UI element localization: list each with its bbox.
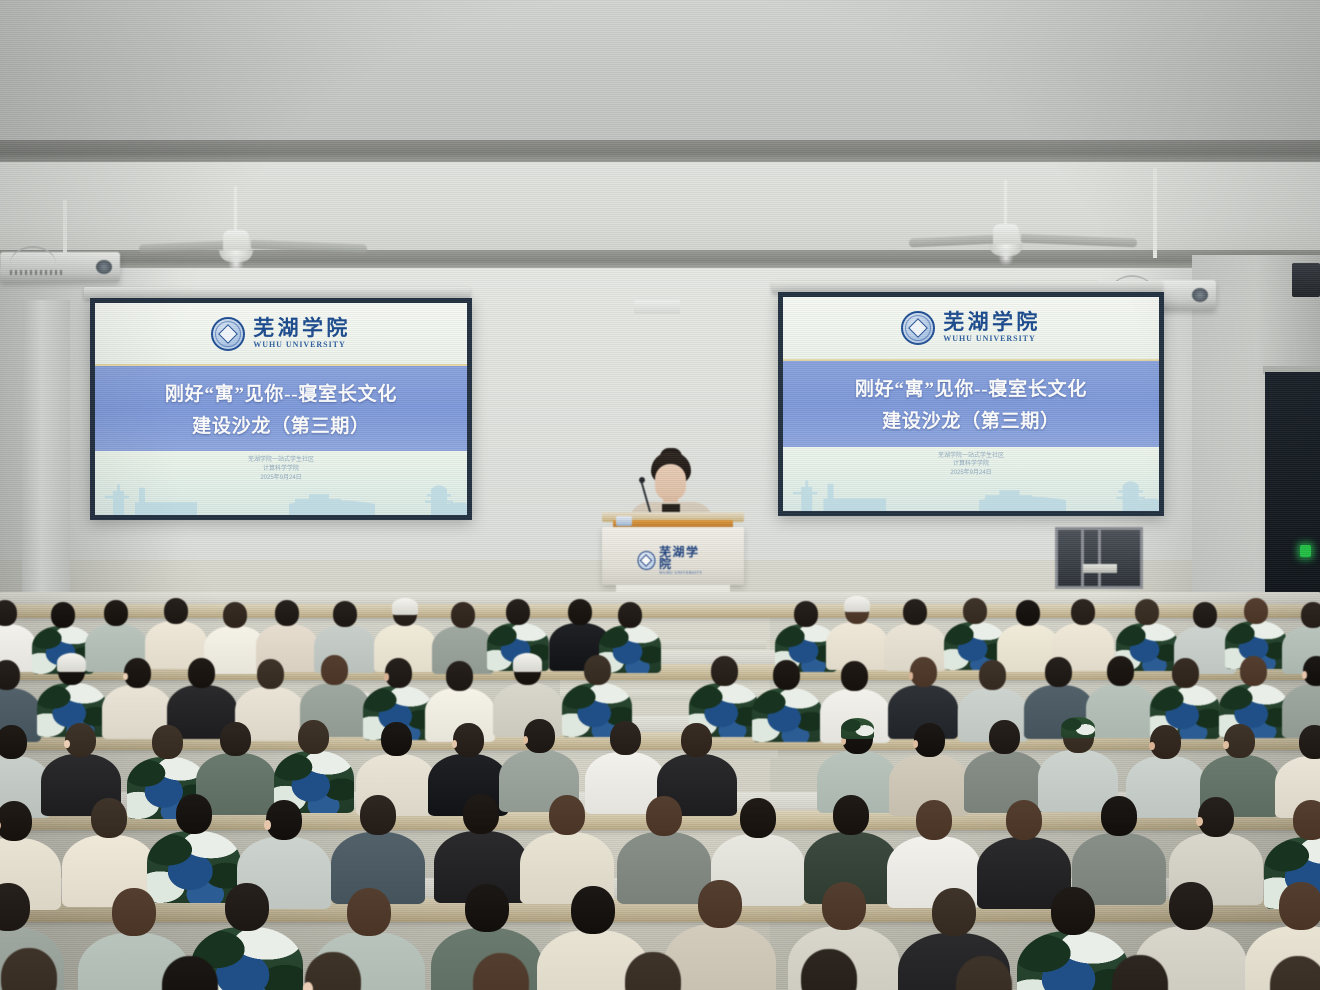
audience-member-head: [584, 655, 611, 685]
audience-member-head: [112, 888, 156, 936]
audience-member-head: [463, 794, 499, 834]
projection-screen-left: 芜湖学院 WUHU UNIVERSITY 刚好“寓”见你--寝室长文化 建设沙龙…: [90, 298, 472, 520]
audience-member-head: [0, 660, 20, 690]
slide-title-line2: 建设沙龙（第三期）: [882, 406, 1060, 433]
audience-member-head: [740, 798, 776, 838]
exit-sign-icon: [1300, 545, 1311, 557]
audience-member-head: [903, 599, 927, 625]
storage-cubby-unit: [1055, 527, 1143, 589]
podium-emblem-icon: [638, 551, 656, 570]
audience-member-cap: [841, 718, 874, 739]
audience-member-ear: [123, 673, 128, 680]
audience-member-head: [1006, 800, 1042, 840]
footer-line-1: 芜湖学院一站式学生社区: [938, 452, 1004, 461]
slide-header-right: 芜湖学院 WUHU UNIVERSITY: [783, 297, 1159, 361]
audience-member-head: [0, 725, 27, 759]
audience-member-head: [220, 722, 251, 756]
slide-university-cn: 芜湖学院: [253, 318, 350, 339]
audience-member-head: [51, 602, 75, 628]
wall-outlet-plate: [634, 300, 680, 314]
audience-member-head: [1150, 725, 1181, 759]
audience-member-head: [1045, 657, 1072, 687]
audience-member-head: [152, 725, 183, 759]
slide-footer-text-left: 芜湖学院一站式学生社区 计算科学学院 2025年9月24日: [248, 456, 314, 482]
audience-member-head: [989, 720, 1020, 754]
audience-member-head: [176, 794, 212, 834]
audience-member-head: [794, 601, 818, 627]
university-emblem-icon: [211, 317, 245, 351]
audience-member-cap: [1061, 717, 1094, 738]
audience-member-head: [333, 601, 357, 627]
audience-member-head: [65, 723, 96, 757]
wall-speaker-icon: [1292, 263, 1320, 297]
ceiling-beam-upper: [0, 140, 1320, 162]
projector-mount-right: [1153, 168, 1157, 258]
audience-member-ear: [64, 740, 70, 748]
audience-member-head: [1169, 882, 1213, 930]
slide-header-left: 芜湖学院 WUHU UNIVERSITY: [95, 303, 467, 366]
audience-member-torso: [1126, 756, 1206, 818]
audience-member-head: [1224, 724, 1255, 758]
audience-member-head: [1279, 882, 1320, 930]
audience-member-head: [833, 795, 869, 835]
audience-member-head: [225, 883, 269, 931]
audience-member-head: [1101, 796, 1137, 836]
audience-member-head: [347, 888, 391, 936]
exit-doorway: [1265, 372, 1320, 600]
audience-member-head: [932, 888, 976, 936]
ceiling-upper: [0, 0, 1320, 140]
audience-member-head: [321, 655, 348, 685]
audience-member-head: [1301, 602, 1320, 628]
ceiling-beam-lower: [0, 250, 1320, 268]
footer-line-2: 计算科学学院: [938, 460, 1004, 469]
audience-member-head: [1198, 797, 1234, 837]
audience-member-head: [910, 657, 937, 687]
slide-title-line1: 刚好“寓”见你--寝室长文化: [855, 374, 1087, 401]
audience-member-head: [914, 723, 945, 757]
audience-member-head: [524, 719, 555, 753]
microphone-icon: [639, 477, 645, 483]
audience-member-cap: [392, 598, 418, 614]
audience-member-head: [1071, 599, 1095, 625]
audience-member-torso: [617, 832, 711, 904]
university-emblem-icon: [901, 311, 935, 345]
slide-title-band-right: 刚好“寓”见你--寝室长文化 建设沙龙（第三期）: [783, 361, 1159, 447]
audience-member-head: [1299, 725, 1320, 759]
slide-university-en: WUHU UNIVERSITY: [253, 339, 345, 350]
audience-member-torso: [1086, 684, 1156, 738]
water-cup: [616, 516, 632, 526]
papers-in-cubby: [1083, 564, 1117, 573]
footer-line-2: 计算科学学院: [248, 465, 314, 474]
audience-member-ear: [1223, 741, 1229, 749]
audience-member-head: [1193, 602, 1217, 628]
audience-member-head: [164, 598, 188, 624]
audience-member-head: [610, 721, 641, 755]
audience-member-head: [104, 600, 128, 626]
audience-member-head: [446, 661, 473, 691]
audience-member-head: [571, 886, 615, 934]
audience-member-head: [646, 796, 682, 836]
audience-member-head: [223, 602, 247, 628]
audience-member-head: [568, 599, 592, 625]
audience-member-ear: [384, 673, 389, 680]
audience-member-head: [453, 723, 484, 757]
audience-member-head: [979, 660, 1006, 690]
audience-member-head: [1135, 599, 1159, 625]
podium-logo: 芜湖学院 WUHU UNIVERSITY: [638, 546, 709, 575]
slide-university-en: WUHU UNIVERSITY: [943, 333, 1035, 344]
audience-member-head: [1051, 887, 1095, 935]
slide-left: 芜湖学院 WUHU UNIVERSITY 刚好“寓”见你--寝室长文化 建设沙龙…: [95, 303, 467, 515]
audience-member-ear: [909, 672, 914, 679]
audience-member-head: [0, 801, 32, 841]
slide-title-line1: 刚好“寓”见你--寝室长文化: [165, 379, 397, 406]
audience-member-head: [618, 602, 642, 628]
audience-member-head: [963, 598, 987, 624]
audience-member-head: [1172, 658, 1199, 688]
audience-member-ear: [1302, 671, 1307, 678]
left-column: [22, 300, 70, 600]
audience-member-torso: [147, 831, 241, 903]
audience-member-head: [91, 798, 127, 838]
audience-member-cap: [844, 596, 870, 612]
lecture-hall-photo: 芜湖学院 WUHU UNIVERSITY 刚好“寓”见你--寝室长文化 建设沙龙…: [0, 0, 1320, 990]
audience-member-head: [1107, 656, 1134, 686]
audience-member-head: [1240, 656, 1267, 686]
projector-mount-left: [63, 200, 67, 255]
skyline-graphic-icon: [95, 478, 467, 515]
slide-footer-left: 芜湖学院一站式学生社区 计算科学学院 2025年9月24日: [95, 451, 467, 515]
projection-screen-right: 芜湖学院 WUHU UNIVERSITY 刚好“寓”见你--寝室长文化 建设沙龙…: [778, 292, 1164, 516]
audience-member-head: [822, 882, 866, 930]
skyline-graphic-icon: [783, 474, 1159, 511]
slide-footer-text-right: 芜湖学院一站式学生社区 计算科学学院 2025年9月24日: [938, 452, 1004, 478]
audience-member-ear: [1196, 817, 1202, 827]
audience-member-head: [681, 723, 712, 757]
slide-university-cn: 芜湖学院: [943, 312, 1040, 333]
audience-member-head: [916, 800, 952, 840]
audience-member-head: [275, 600, 299, 626]
audience-member-head: [360, 795, 396, 835]
audience-member-torso: [752, 688, 822, 742]
audience-member-ear: [264, 820, 270, 830]
slide-title-band-left: 刚好“寓”见你--寝室长文化 建设沙龙（第三期）: [95, 366, 467, 451]
audience-member-head: [1244, 598, 1268, 624]
audience-member-head: [1293, 800, 1320, 840]
audience-member-head: [381, 722, 412, 756]
footer-line-1: 芜湖学院一站式学生社区: [248, 456, 314, 465]
audience-member-head: [1016, 600, 1040, 626]
footer-line-3: 2025年9月24日: [938, 469, 1004, 478]
podium-logo-en: WUHU UNIVERSITY: [659, 570, 702, 575]
audience-member-head: [385, 658, 412, 688]
slide-footer-right: 芜湖学院一站式学生社区 计算科学学院 2025年9月24日: [783, 447, 1159, 511]
audience-member-head: [124, 658, 151, 688]
podium-logo-cn: 芜湖学院: [659, 546, 708, 570]
slide-title-line2: 建设沙龙（第三期）: [192, 411, 370, 438]
audience-member-head: [451, 602, 475, 628]
audience-member-cap: [57, 653, 86, 672]
desk-row: [0, 604, 1320, 618]
audience-member-cap: [513, 653, 542, 672]
audience-member-head: [711, 656, 738, 686]
footer-line-3: 2025年9月24日: [248, 474, 314, 483]
audience-member-head: [257, 659, 284, 689]
audience-member-head: [298, 720, 329, 754]
audience-member-head: [465, 884, 509, 932]
audience-member-head: [549, 795, 585, 835]
audience-member-head: [698, 880, 742, 928]
audience-member-head: [841, 661, 868, 691]
audience-member-head: [773, 660, 800, 690]
audience-member-head: [266, 800, 302, 840]
audience-member-head: [506, 599, 530, 625]
slide-right: 芜湖学院 WUHU UNIVERSITY 刚好“寓”见你--寝室长文化 建设沙龙…: [783, 297, 1159, 511]
audience-member-head: [188, 658, 215, 688]
